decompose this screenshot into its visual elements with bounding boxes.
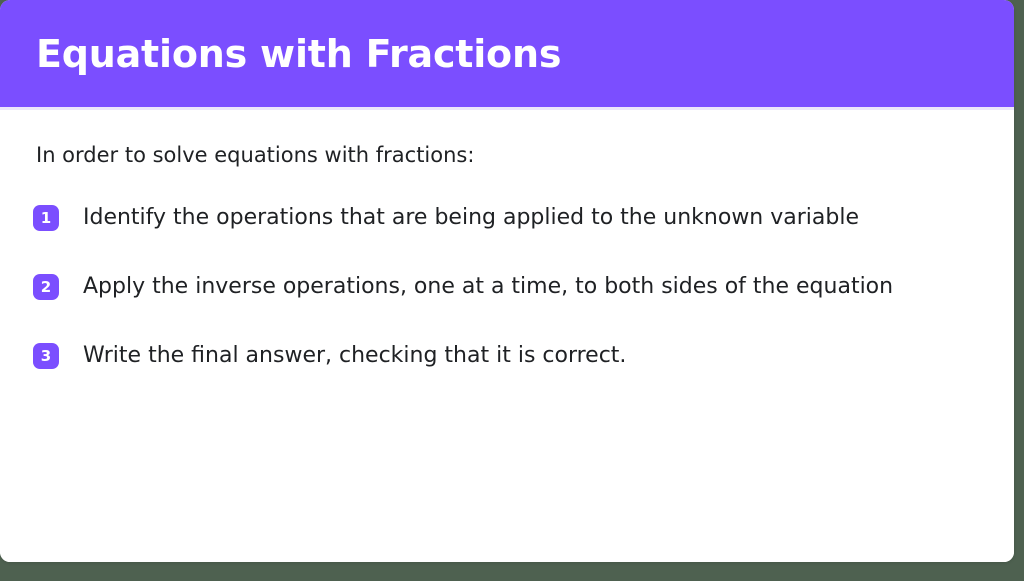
list-item: 1 Identify the operations that are being… xyxy=(33,198,973,242)
card-header: Equations with Fractions xyxy=(0,0,1014,107)
step-text: Apply the inverse operations, one at a t… xyxy=(83,267,893,307)
intro-text: In order to solve equations with fractio… xyxy=(36,140,474,170)
step-text: Write the final answer, checking that it… xyxy=(83,336,626,376)
page-title: Equations with Fractions xyxy=(36,28,561,80)
step-text: Identify the operations that are being a… xyxy=(83,198,859,238)
slide-canvas: Equations with Fractions In order to sol… xyxy=(0,0,1024,581)
list-item: 2 Apply the inverse operations, one at a… xyxy=(33,267,973,311)
card-body: In order to solve equations with fractio… xyxy=(0,110,1014,562)
list-item: 3 Write the final answer, checking that … xyxy=(33,336,973,380)
step-number-badge: 3 xyxy=(33,343,59,369)
lesson-card: Equations with Fractions In order to sol… xyxy=(0,0,1014,562)
step-number-badge: 1 xyxy=(33,205,59,231)
steps-list: 1 Identify the operations that are being… xyxy=(33,198,973,405)
step-number-badge: 2 xyxy=(33,274,59,300)
